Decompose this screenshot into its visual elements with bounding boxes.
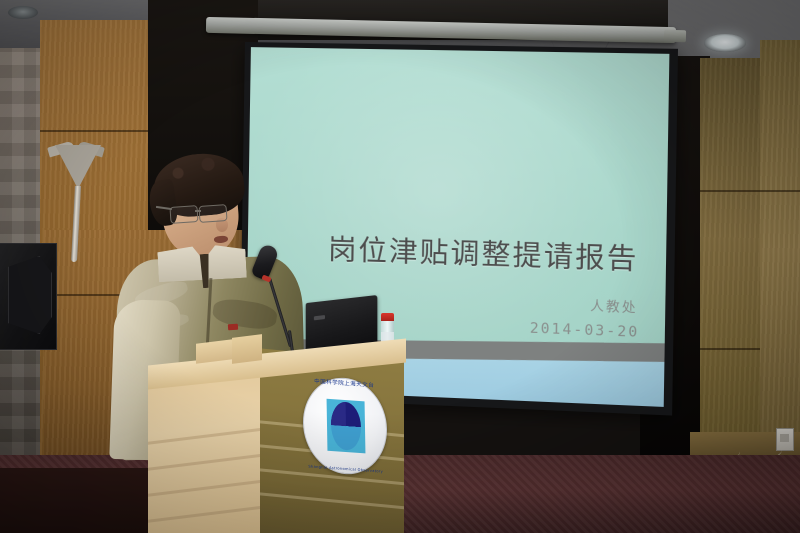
wood-panel-seam xyxy=(760,190,800,192)
observatory-emblem-icon: 中国科学院上海天文台 Shanghai Astronomical Observa… xyxy=(302,375,388,477)
carpet-floor-shadow xyxy=(0,468,160,533)
presentation-photo-scene: 岗位津贴调整提请报告 人教处 2014-03-20 xyxy=(0,0,800,533)
screen-housing-end-cap xyxy=(664,30,686,42)
podium-groove xyxy=(148,428,260,445)
eyeglasses-icon xyxy=(169,205,198,224)
wood-panel-seam xyxy=(40,130,148,132)
jacket-badge xyxy=(228,324,238,331)
recessed-ceiling-light-icon xyxy=(8,6,38,19)
laptop-logo xyxy=(314,315,325,320)
bottle-cap xyxy=(381,313,394,321)
speaker-cone xyxy=(8,256,52,334)
podium-groove xyxy=(148,454,260,471)
emblem-chinese-text: 中国科学院上海天文台 xyxy=(302,378,387,432)
slide-department: 人教处 xyxy=(590,295,638,316)
fabric-shadow xyxy=(211,297,278,332)
eyeglasses-lens-right xyxy=(198,204,227,223)
podium-groove xyxy=(148,480,260,497)
podium-notch xyxy=(232,334,262,364)
recessed-ceiling-light-icon xyxy=(704,34,746,52)
wood-wall-panel-far-right xyxy=(760,40,800,460)
eyeglasses-bridge xyxy=(195,210,201,212)
wall-sconce-icon xyxy=(55,145,101,189)
podium-groove xyxy=(148,506,260,523)
podium-groove xyxy=(256,492,404,509)
wall-speaker-icon xyxy=(0,243,57,350)
